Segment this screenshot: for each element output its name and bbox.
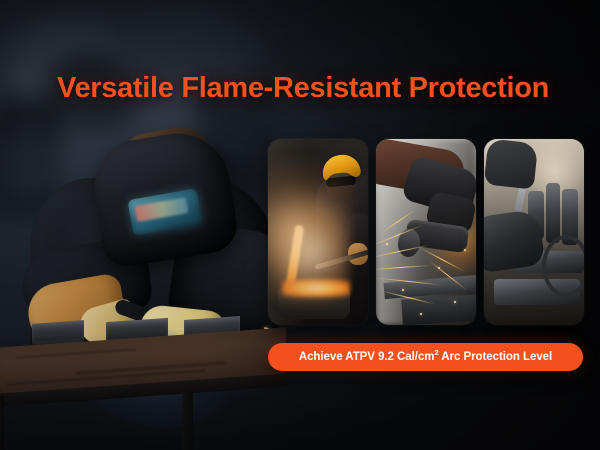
background-seam (566, 0, 567, 120)
grinder-photo (376, 139, 476, 325)
page-title: Versatile Flame-Resistant Protection (57, 70, 549, 106)
spark-streak (376, 225, 422, 246)
spark-dot (386, 243, 388, 245)
engine-photo (484, 139, 584, 325)
spark-streak (376, 278, 442, 286)
spark-dot (420, 313, 422, 315)
spark-streak (419, 247, 465, 272)
feature-card-gallery (268, 139, 584, 325)
arc-rating-callout-banner: Achieve ATPV 9.2 Cal/cm2 Arc Protection … (268, 343, 583, 371)
engine-hose (542, 235, 584, 297)
arc-rating-callout-text: Achieve ATPV 9.2 Cal/cm2 Arc Protection … (299, 351, 552, 363)
promotional-banner: Versatile Flame-Resistant Protection (0, 0, 600, 450)
mechanic-glove-upper (484, 139, 538, 189)
callout-text-before: Achieve ATPV 9.2 Cal/cm (299, 351, 435, 363)
foundry-smoke (276, 185, 346, 301)
feature-card-grinder (376, 139, 476, 325)
spark-streak (376, 245, 429, 259)
engine-component (546, 183, 560, 243)
foundry-photo (268, 139, 368, 325)
feature-card-foundry (268, 139, 368, 325)
spark-streak (376, 265, 430, 270)
steel-workbench (0, 322, 286, 450)
callout-text-after: Arc Protection Level (439, 351, 553, 363)
grinder-spark-shower (376, 139, 476, 325)
spark-dot (454, 301, 456, 303)
spark-dot (464, 249, 466, 251)
spark-dot (402, 289, 404, 291)
bench-leg (182, 392, 193, 450)
bench-leg (0, 396, 4, 450)
spark-streak (429, 260, 467, 290)
spark-streak (381, 290, 436, 305)
feature-card-engine (484, 139, 584, 325)
spark-dot (438, 267, 440, 269)
